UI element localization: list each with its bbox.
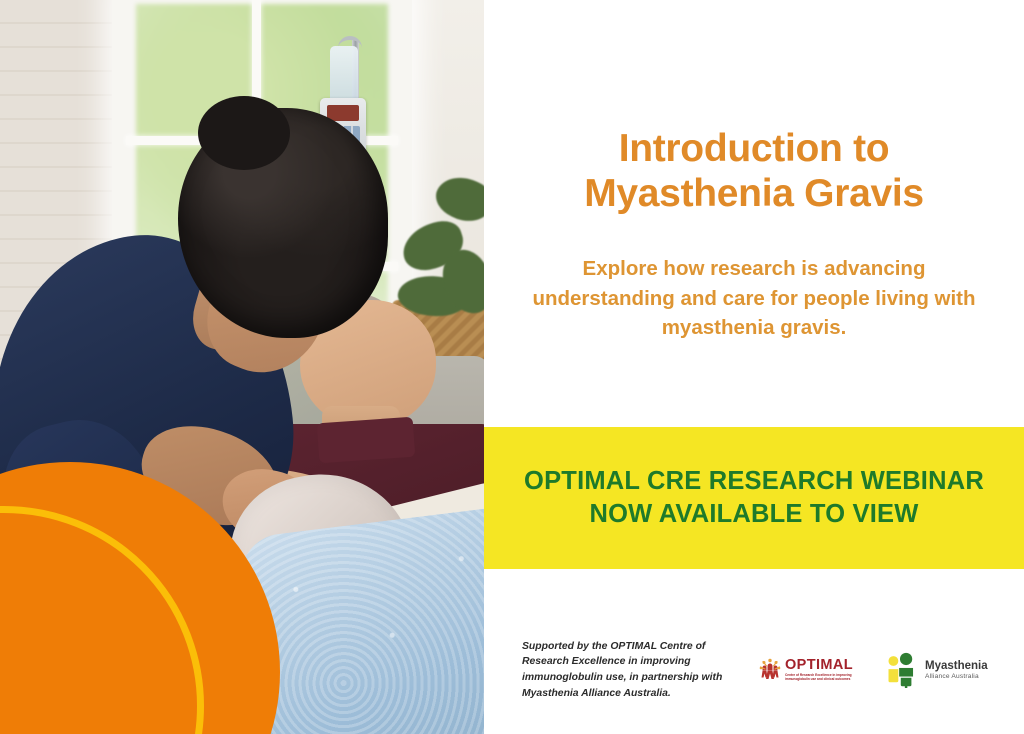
people-circle-icon	[758, 658, 782, 682]
myasthenia-subtext: Alliance Australia	[925, 673, 988, 680]
optimal-tagline: Centre of Research Excellence in improvi…	[785, 673, 871, 682]
myasthenia-text: Myasthenia Alliance Australia	[925, 660, 988, 680]
banner-text: OPTIMAL CRE RESEARCH WEBINAR NOW AVAILAB…	[519, 465, 989, 530]
two-figures-icon	[885, 652, 919, 688]
nurse-hair-bun	[198, 96, 290, 170]
myasthenia-wordmark: Myasthenia	[925, 660, 988, 673]
subtitle: Explore how research is advancing unders…	[518, 254, 990, 343]
headline-line-2: Myasthenia Gravis	[484, 171, 1024, 216]
iv-bag	[330, 46, 358, 104]
corner-decoration-bottom-left	[0, 414, 300, 734]
webinar-banner: OPTIMAL CRE RESEARCH WEBINAR NOW AVAILAB…	[484, 427, 1024, 569]
poster: Introduction to Myasthenia Gravis Explor…	[0, 0, 1024, 734]
myasthenia-alliance-logo: Myasthenia Alliance Australia	[885, 652, 988, 688]
optimal-wordmark: OPTIMAL	[785, 658, 871, 673]
headline-line-1: Introduction to	[484, 126, 1024, 171]
optimal-logo: OPTIMAL Centre of Research Excellence in…	[758, 658, 871, 682]
content-panel: Introduction to Myasthenia Gravis Explor…	[484, 0, 1024, 734]
optimal-text: OPTIMAL Centre of Research Excellence in…	[785, 658, 871, 681]
footer: Supported by the OPTIMAL Centre of Resea…	[484, 630, 1024, 710]
credit-text: Supported by the OPTIMAL Centre of Resea…	[484, 639, 752, 701]
page-title: Introduction to Myasthenia Gravis	[484, 126, 1024, 216]
logo-group: OPTIMAL Centre of Research Excellence in…	[752, 652, 1024, 688]
patient-collar	[317, 417, 416, 464]
